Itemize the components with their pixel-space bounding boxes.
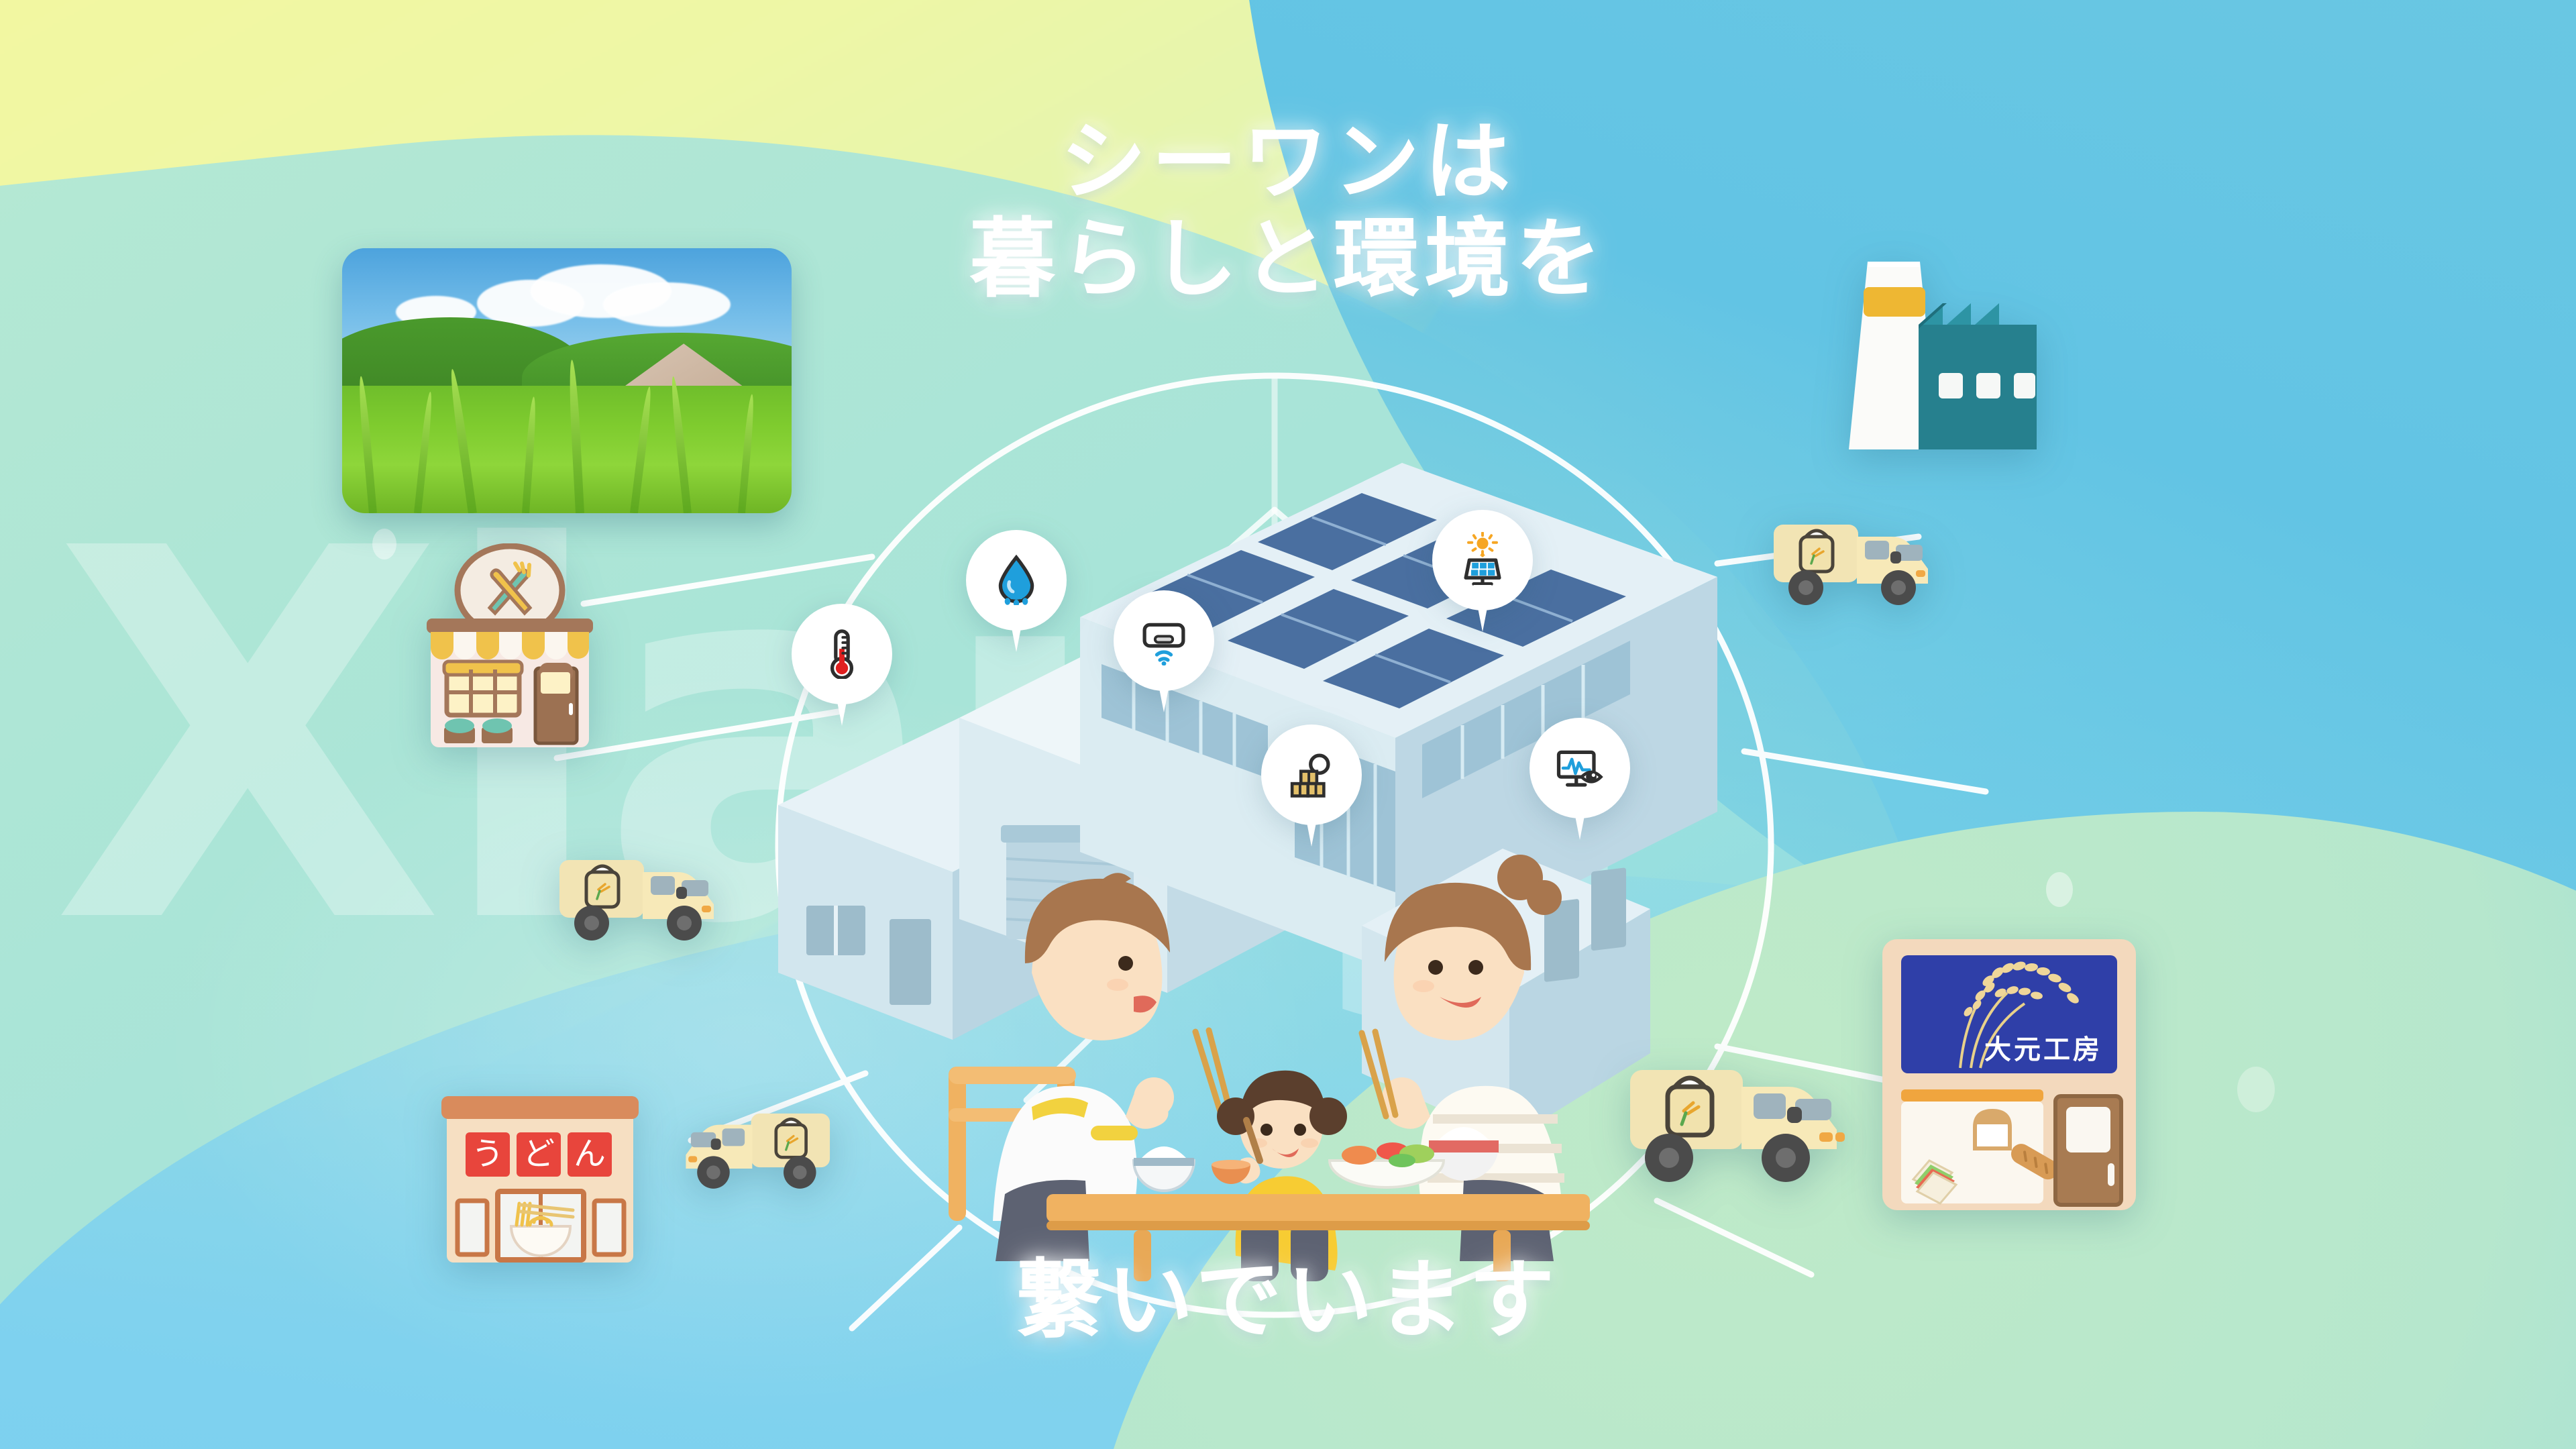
boxes-magnifier-icon [1283,747,1340,803]
table-top [1046,1194,1590,1222]
svg-text:う: う [472,1135,504,1173]
thermometer-icon [814,626,870,682]
page-title: シーワンは 暮らしと環境を [0,114,2576,308]
rice-bowl [1134,1146,1194,1191]
air-conditioner-wifi-icon [1136,612,1192,669]
delivery-truck[interactable] [1771,490,1972,617]
monitor-waveform-eye-icon [1552,740,1608,796]
sensor-bubble-inventory[interactable] [1261,724,1362,844]
family-dining-scene [932,845,1617,1281]
solar-panel-sun-icon [1454,532,1511,588]
sensor-bubble-aircon[interactable] [1114,590,1214,710]
restaurant-storefront[interactable] [402,543,617,765]
sensor-bubble-humidity[interactable] [966,530,1067,649]
poster-canvas: Xiang シーワンは 暮らしと環境を [0,0,2576,1449]
headline-line-1: シーワンは [0,114,2576,211]
delivery-truck[interactable] [671,1080,859,1201]
sensor-bubble-temperature[interactable] [792,604,892,723]
page-subtitle: 繋いでいます [0,1254,2576,1348]
chopsticks [1362,1032,1395,1116]
svg-text:ど: ど [523,1135,555,1173]
salad-bowl [1330,1142,1444,1187]
water-drop-icon [988,552,1044,608]
udon-shop-storefront[interactable]: う ど ん [436,1073,644,1281]
bakery-storefront[interactable]: 大元工房 [1865,926,2153,1221]
headline-line-3: 繋いでいます [0,1254,2576,1348]
delivery-truck[interactable] [1597,1020,1865,1221]
sensor-bubble-solar[interactable] [1432,510,1533,629]
photo-rice-field [342,386,792,513]
bakery-sign-text: 大元工房 [1984,1034,2102,1065]
sensor-bubble-monitoring[interactable] [1529,718,1630,837]
svg-text:ん: ん [574,1135,606,1173]
delivery-truck[interactable] [557,825,758,953]
headline-line-2: 暮らしと環境を [0,211,2576,309]
